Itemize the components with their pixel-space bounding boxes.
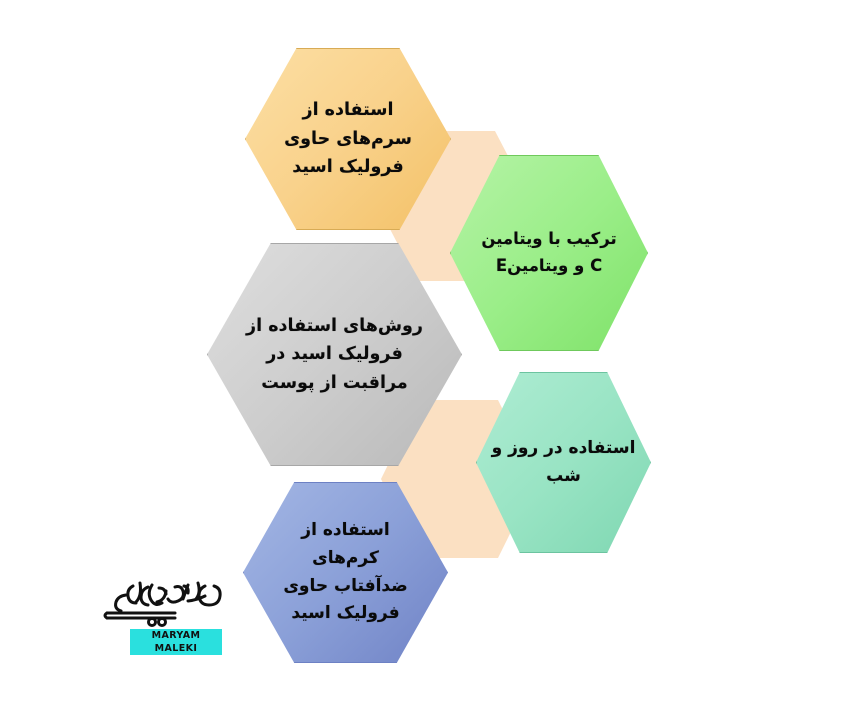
hex-label-methods-of-use: روش‌های استفاده از فرولیک اسید در مراقبت… — [246, 312, 423, 397]
hex-label-vitamins: ترکیب با ویتامین C و ویتامینE — [481, 226, 616, 279]
hex-label-sunscreen: استفاده از کرم‌های ضدآفتاب حاوی فرولیک ا… — [283, 517, 407, 627]
brand-watermark: MARYAM MALEKI — [100, 566, 222, 650]
hex-label-day-and-night: استفاده در روز و شب — [492, 435, 636, 490]
hex-label-serums: استفاده از سرم‌های حاوی فرولیک اسید — [284, 96, 412, 181]
brand-wordmark-text: MARYAM MALEKI — [130, 629, 222, 655]
infographic-canvas: روش‌های استفاده از فرولیک اسید در مراقبت… — [0, 0, 850, 709]
maryam-maleki-script-logo — [100, 566, 222, 628]
